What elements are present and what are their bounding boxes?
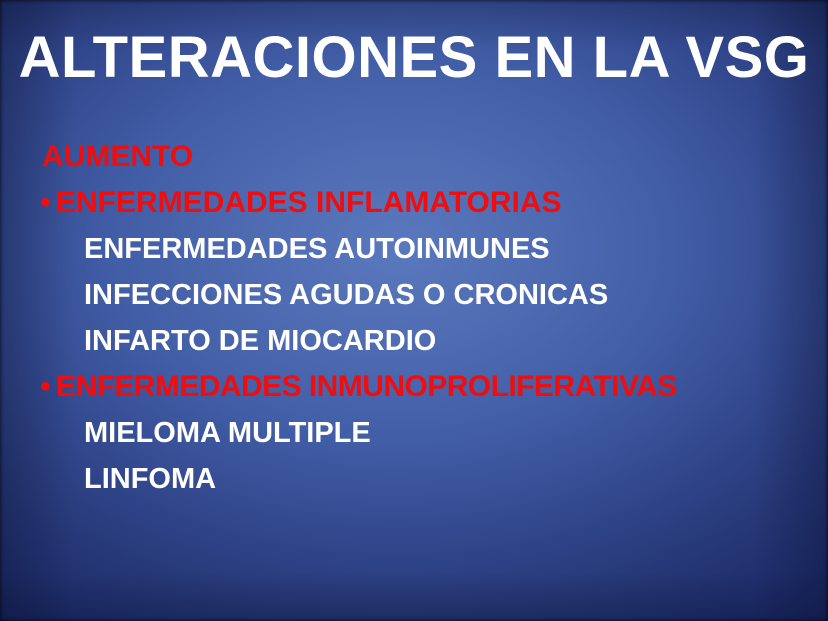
slide-title: ALTERACIONES EN LA VSG [0, 28, 828, 89]
content-line-text: ENFERMEDADES INMUNOPROLIFERATIVAS [56, 369, 677, 405]
bullet-point-icon: • [40, 369, 56, 405]
bullet-point-icon: • [40, 185, 56, 221]
content-line-text: MIELOMA MULTIPLE [84, 415, 371, 451]
content-bullet-enfermedades-inflamatorias: • ENFERMEDADES INFLAMATORIAS [40, 185, 808, 231]
slide-body-content: AUMENTO • ENFERMEDADES INFLAMATORIAS ENF… [40, 139, 808, 507]
content-sub-enfermedades-autoinmunes: ENFERMEDADES AUTOINMUNES [40, 231, 808, 277]
presentation-slide: ALTERACIONES EN LA VSG AUMENTO • ENFERME… [0, 0, 828, 621]
content-line-text: ENFERMEDADES INFLAMATORIAS [56, 185, 562, 221]
content-line-text: INFARTO DE MIOCARDIO [84, 323, 436, 359]
content-line-text: INFECCIONES AGUDAS O CRONICAS [84, 277, 608, 313]
content-sub-linfoma: LINFOMA [40, 461, 808, 507]
content-bullet-enfermedades-inmunoproliferativas: • ENFERMEDADES INMUNOPROLIFERATIVAS [40, 369, 808, 415]
content-sub-mieloma-multiple: MIELOMA MULTIPLE [40, 415, 808, 461]
content-sub-infecciones-agudas-o-cronicas: INFECCIONES AGUDAS O CRONICAS [40, 277, 808, 323]
content-line-text: LINFOMA [84, 461, 216, 497]
content-line-text: ENFERMEDADES AUTOINMUNES [84, 231, 550, 267]
content-heading-aumento: AUMENTO [40, 139, 808, 185]
content-line-text: AUMENTO [42, 139, 193, 175]
content-sub-infarto-de-miocardio: INFARTO DE MIOCARDIO [40, 323, 808, 369]
